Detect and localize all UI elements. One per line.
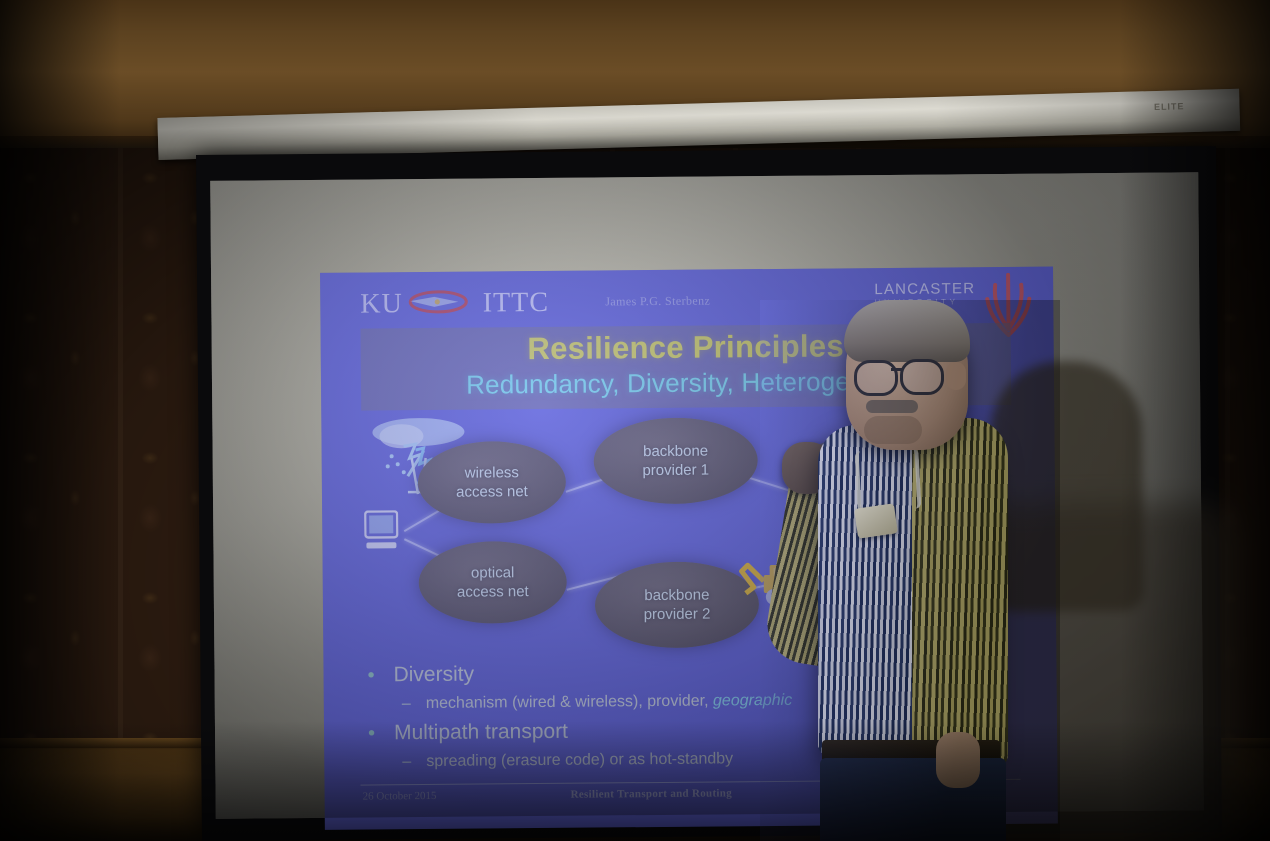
ku-logo-text: KU bbox=[360, 288, 403, 319]
presenter-lanyard bbox=[854, 448, 921, 511]
node-label-line2: access net bbox=[457, 582, 529, 602]
node-backbone-provider-1: backbone provider 1 bbox=[593, 417, 758, 504]
ittc-logo-text: ITTC bbox=[483, 287, 549, 319]
presenter-name: James P.G. Sterbenz bbox=[605, 294, 710, 310]
presenter-badge bbox=[854, 503, 898, 538]
eyeglasses-left-lens bbox=[854, 360, 898, 396]
screen-brand-label: ELITE bbox=[1154, 101, 1185, 112]
footer-title: Resilient Transport and Routing bbox=[571, 787, 732, 800]
presenter-ear bbox=[946, 362, 966, 390]
node-label-line1: backbone bbox=[643, 586, 710, 606]
lancaster-line1: LANCASTER bbox=[874, 281, 975, 297]
eyeglasses-bridge bbox=[891, 368, 903, 371]
jayhawk-icon bbox=[404, 288, 472, 317]
presenter-torso-right bbox=[912, 418, 1008, 770]
node-label-line1: wireless bbox=[456, 463, 528, 483]
footer-date: 26 October 2015 bbox=[363, 790, 437, 803]
presenter-figure bbox=[760, 300, 1060, 841]
node-label-line1: optical bbox=[457, 563, 529, 583]
node-optical-access-net: optical access net bbox=[418, 541, 567, 624]
eyeglasses-right-lens bbox=[900, 359, 944, 395]
node-backbone-provider-2: backbone provider 2 bbox=[595, 561, 760, 648]
node-label-line1: backbone bbox=[642, 442, 709, 462]
bullet-text: mechanism (wired & wireless), provider, bbox=[426, 693, 713, 713]
presenter-lower-hand bbox=[936, 732, 980, 788]
node-wireless-access-net-left: wireless access net bbox=[418, 441, 567, 524]
presenter-chin bbox=[864, 416, 922, 444]
projection-screen-frame: KU ITTC James P.G. Sterbenz LANCASTER UN… bbox=[196, 146, 1222, 841]
node-label-line2: access net bbox=[456, 482, 528, 502]
node-label-line2: provider 1 bbox=[642, 461, 709, 481]
computer-icon bbox=[364, 510, 398, 550]
photo-scene: ELITE KU ITTC James P.G. Sterbenz bbox=[0, 0, 1270, 841]
node-label-line2: provider 2 bbox=[644, 605, 711, 625]
presenter-hair bbox=[844, 300, 970, 362]
presenter-mustache bbox=[866, 400, 918, 413]
